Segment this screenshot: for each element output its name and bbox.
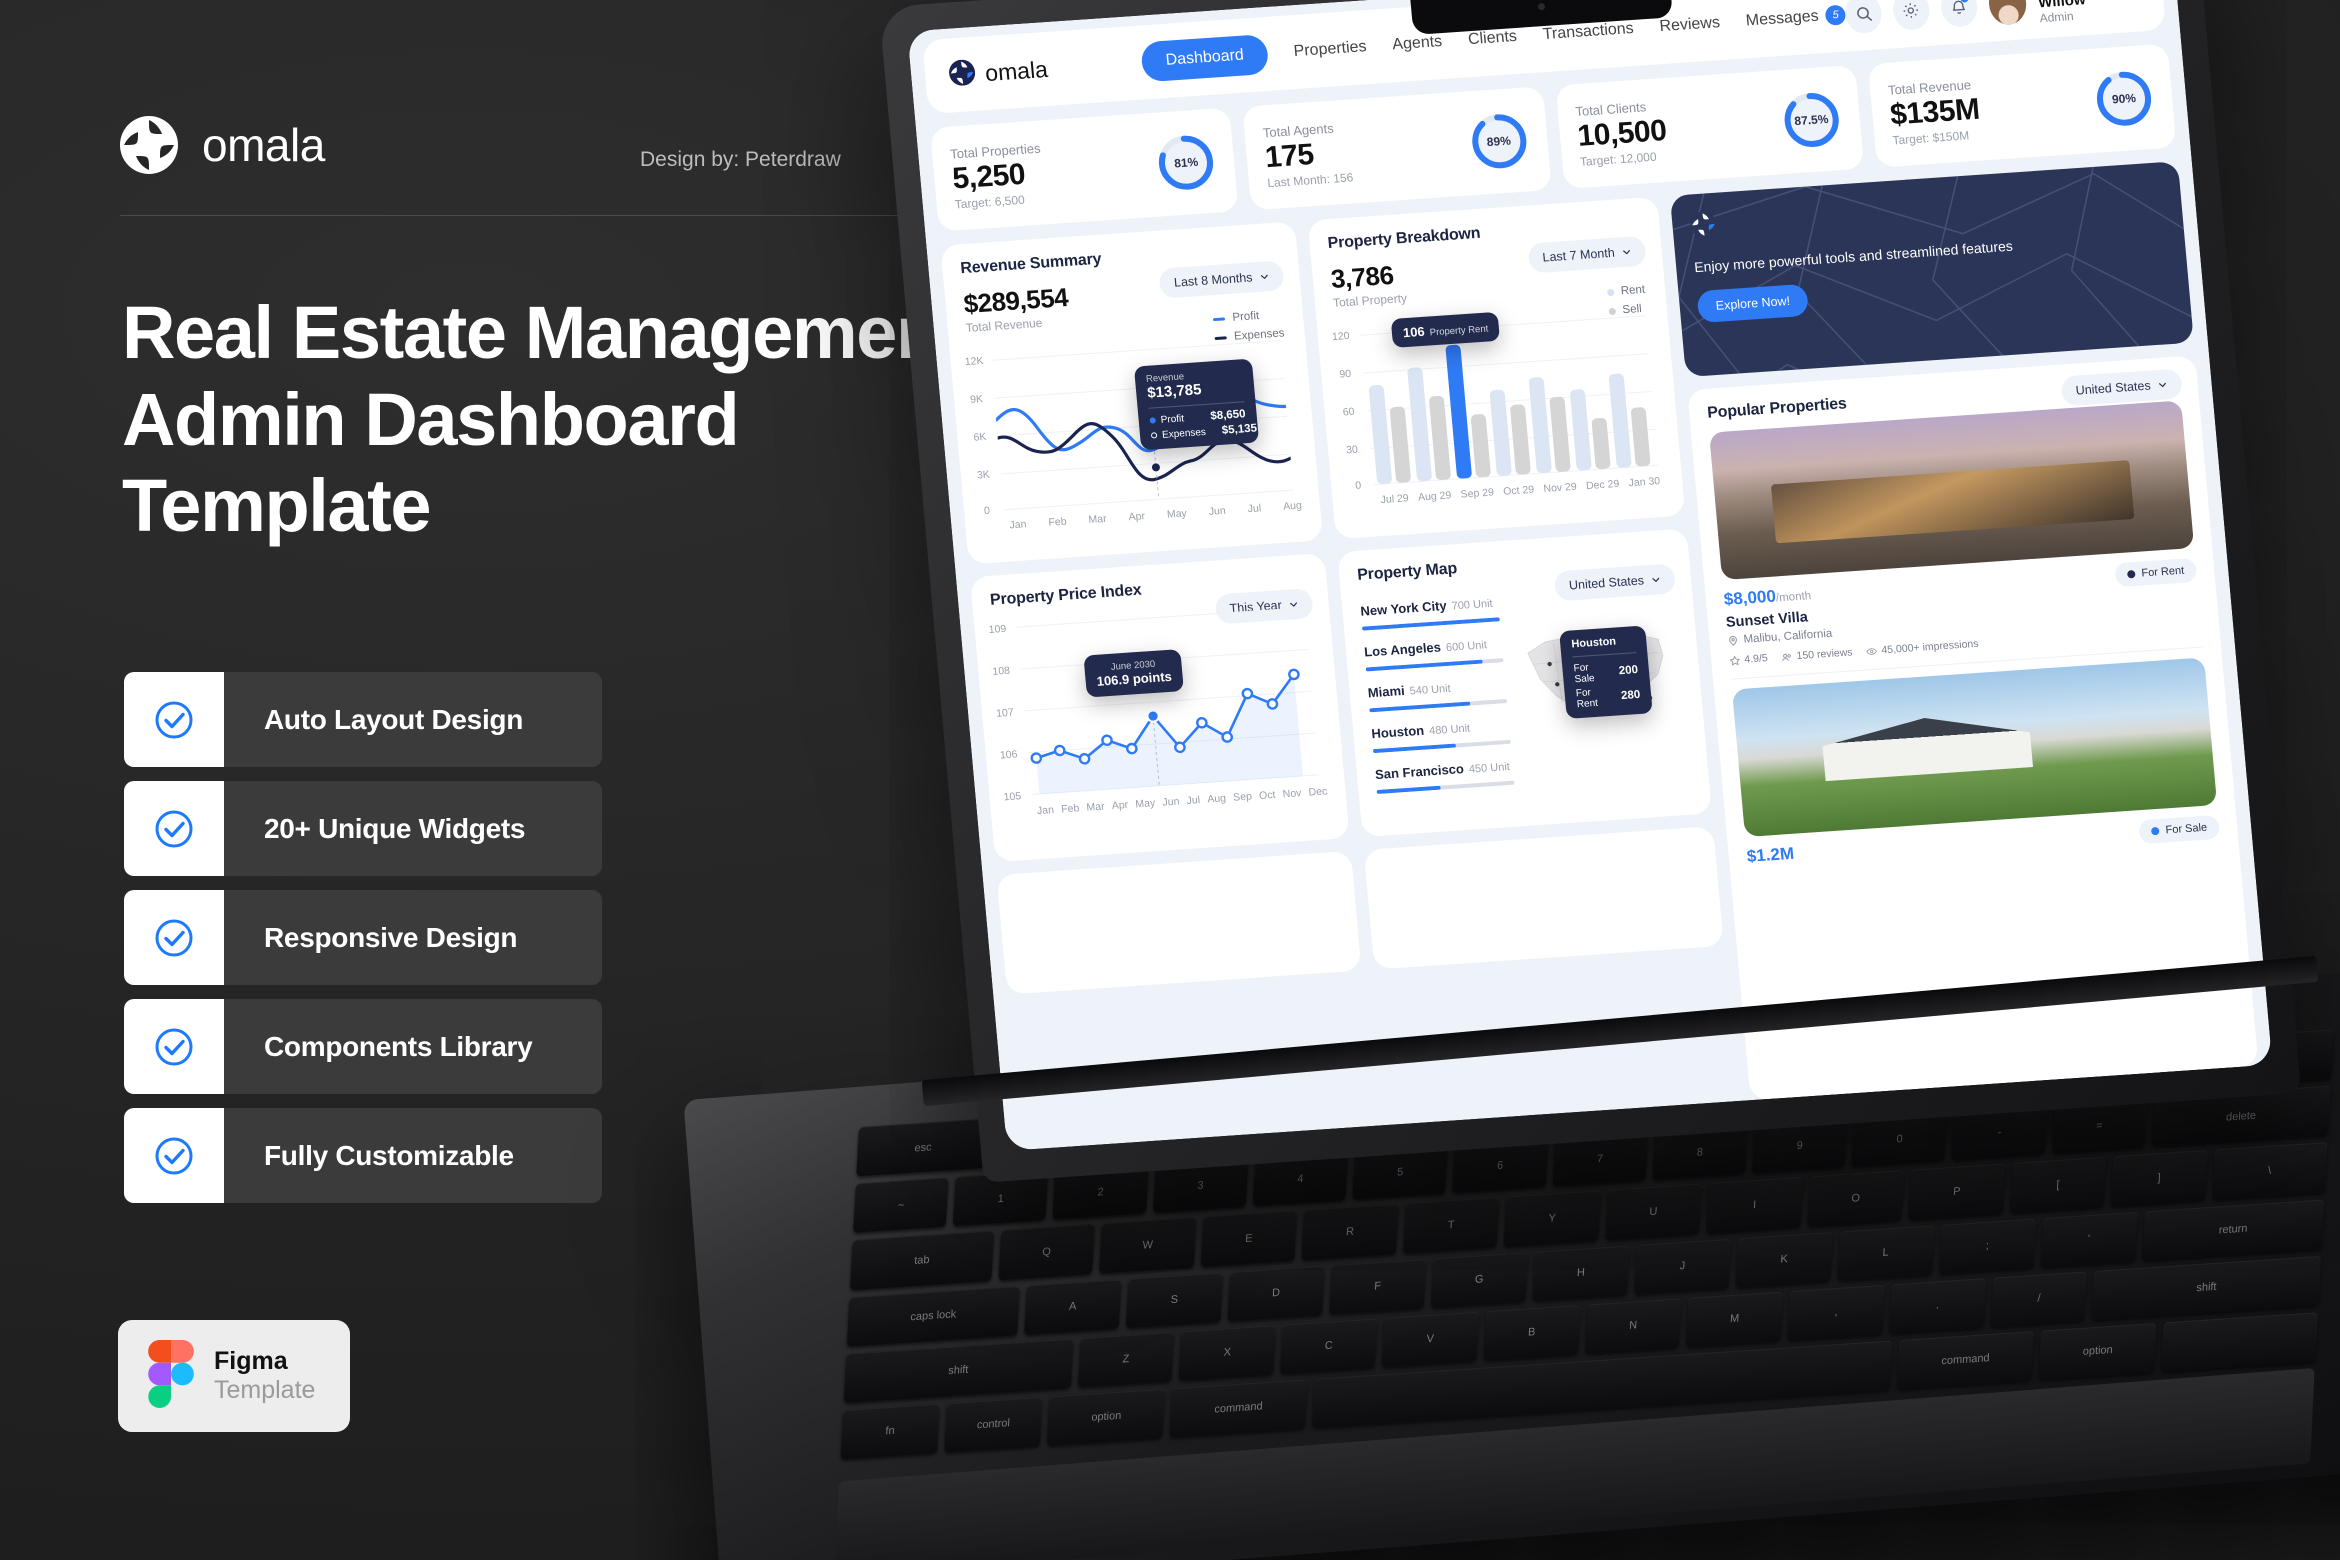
search-icon[interactable] [1844, 0, 1883, 34]
progress-ring: 87.5% [1779, 88, 1844, 152]
city-name: New York City [1360, 598, 1447, 619]
revenue-tooltip: Revenue $13,785 Profit$8,650 Expenses$5,… [1134, 359, 1259, 451]
brand-name: omala [202, 118, 325, 172]
stat-value: 5,250 [951, 155, 1044, 197]
city-progress-bar [1376, 781, 1514, 794]
stat-value: 175 [1263, 134, 1352, 176]
tab-dashboard[interactable]: Dashboard [1140, 34, 1270, 82]
tab-messages[interactable]: Messages5 [1745, 5, 1846, 32]
feature-label: Components Library [224, 999, 532, 1094]
city-units: 700 Unit [1451, 598, 1493, 613]
chevron-down-icon [1621, 247, 1632, 258]
divider [120, 215, 1000, 216]
progress-ring: 89% [1466, 109, 1531, 173]
us-map[interactable]: Houston For Sale200 For Rent280 [1508, 581, 1691, 784]
price-index-chart: 109 108 107 106 105 [988, 602, 1332, 823]
property-image [1732, 657, 2217, 837]
design-credit: Design by: Peterdraw [640, 148, 841, 172]
tooltip-label: Property Rent [1429, 323, 1488, 338]
check-circle-icon [124, 672, 224, 767]
city-progress-bar [1373, 740, 1511, 753]
feature-label: Responsive Design [224, 890, 517, 985]
list-item: New York City700 Unit [1360, 593, 1500, 630]
stat-card-total-clients: Total Clients 10,500 Target: 12,000 87.5… [1555, 65, 1864, 189]
bell-icon[interactable] [1939, 0, 1978, 28]
revenue-summary-card: Revenue Summary $289,554 Total Revenue L… [940, 221, 1323, 564]
property-item[interactable]: $1.2M For Sale [1732, 657, 2220, 866]
list-item: Responsive Design [124, 890, 602, 985]
tab-properties[interactable]: Properties [1293, 38, 1367, 61]
laptop-mockup: escF1F2F3F4F5F6F7F8F9F10F11F12 ~12345678… [930, 0, 2340, 1560]
list-item: Houston480 Unit [1371, 716, 1511, 753]
omala-logo-icon [1691, 224, 1718, 243]
feature-label: 20+ Unique Widgets [224, 781, 525, 876]
list-item: Components Library [124, 999, 602, 1094]
feature-list: Auto Layout Design 20+ Unique Widgets Re… [124, 672, 602, 1203]
property-image [1709, 400, 2194, 580]
feature-label: Auto Layout Design [224, 672, 523, 767]
eye-icon [1866, 645, 1878, 657]
city-list: New York City700 Unit Los Angeles600 Uni… [1360, 593, 1515, 794]
star-icon [1729, 655, 1741, 667]
extra-card-a [997, 851, 1362, 995]
property-rating: 4.9/5 [1729, 652, 1768, 667]
stat-value: 10,500 [1576, 113, 1668, 155]
figma-template-badge[interactable]: Figma Template [118, 1320, 350, 1432]
breakdown-chart: 120 90 60 30 0 [1332, 309, 1668, 490]
list-item: 20+ Unique Widgets [124, 781, 602, 876]
chevron-down-icon [1259, 271, 1270, 282]
tooltip-value: 106 [1402, 324, 1425, 340]
people-icon [1781, 651, 1793, 663]
list-item: Fully Customizable [124, 1108, 602, 1203]
figma-title: Figma [214, 1347, 315, 1376]
tooltip-city: Houston [1571, 634, 1636, 650]
city-name: Los Angeles [1364, 639, 1442, 659]
list-item: Los Angeles600 Unit [1363, 634, 1503, 671]
feature-label: Fully Customizable [224, 1108, 514, 1203]
check-circle-icon [124, 999, 224, 1094]
houston-tooltip: Houston For Sale200 For Rent280 [1559, 625, 1653, 719]
stat-percent: 87.5% [1779, 88, 1844, 152]
location-pin-icon [1727, 635, 1739, 647]
property-item[interactable]: $8,000/month Sunset Villa Malibu, Califo… [1709, 400, 2202, 666]
tab-clients[interactable]: Clients [1467, 28, 1517, 49]
avatar[interactable] [1987, 0, 2028, 26]
status-badge: For Sale [2139, 815, 2221, 844]
tab-agents[interactable]: Agents [1392, 33, 1443, 54]
chevron-down-icon[interactable] [2125, 0, 2140, 4]
check-circle-icon [124, 890, 224, 985]
gear-icon[interactable] [1892, 0, 1931, 31]
progress-ring: 81% [1154, 131, 1219, 195]
progress-ring: 90% [2091, 67, 2156, 131]
header-actions: Milla Willow Admin [1843, 0, 2140, 39]
promo-card: Enjoy more powerful tools and streamline… [1670, 161, 2194, 377]
extra-card-b [1364, 826, 1724, 969]
figma-icon [148, 1340, 194, 1413]
stat-percent: 81% [1154, 131, 1219, 195]
city-name: Houston [1371, 723, 1425, 742]
stat-percent: 89% [1466, 109, 1531, 173]
city-progress-bar [1366, 658, 1504, 671]
stat-card-total-properties: Total Properties 5,250 Target: 6,500 81% [930, 108, 1239, 232]
city-units: 480 Unit [1429, 723, 1471, 738]
check-circle-icon [124, 781, 224, 876]
price-index-card: Property Price Index This Year 109 108 1… [970, 553, 1350, 862]
omala-logo-icon [948, 58, 977, 91]
legend-rent: Rent [1606, 284, 1645, 299]
messages-badge: 5 [1825, 5, 1847, 26]
legend-profit: Profit [1213, 310, 1260, 325]
property-map-card: Property Map United States New York City… [1337, 528, 1712, 837]
app-logo-name: omala [984, 55, 1049, 86]
city-progress-bar [1369, 699, 1507, 712]
check-circle-icon [124, 1108, 224, 1203]
chevron-down-icon [2157, 379, 2168, 390]
omala-logo-icon [120, 116, 178, 174]
price-index-tooltip: June 2030 106.9 points [1083, 649, 1184, 697]
laptop-lid: omala Dashboard Properties Agents Client… [879, 0, 2301, 1183]
city-name: Miami [1367, 683, 1405, 700]
city-name: San Francisco [1374, 761, 1464, 782]
stat-value: $135M [1889, 91, 1981, 133]
list-item: Miami540 Unit [1367, 675, 1507, 712]
app-logo[interactable]: omala [948, 47, 1143, 91]
city-units: 600 Unit [1445, 639, 1487, 654]
stat-card-total-revenue: Total Revenue $135M Target: $150M 90% [1868, 44, 2177, 168]
stat-percent: 90% [2091, 67, 2156, 131]
figma-subtitle: Template [214, 1376, 315, 1405]
property-impressions: 45,000+ impressions [1866, 638, 1979, 658]
tab-reviews[interactable]: Reviews [1659, 14, 1721, 36]
property-breakdown-card: Property Breakdown 3,786 Total Property … [1308, 197, 1686, 540]
property-reviews: 150 reviews [1781, 646, 1853, 663]
list-item: Auto Layout Design [124, 672, 602, 767]
stat-card-total-agents: Total Agents 175 Last Month: 156 89% [1242, 86, 1551, 210]
city-units: 450 Unit [1468, 761, 1510, 776]
list-item: San Francisco450 Unit [1374, 757, 1514, 794]
city-progress-bar [1362, 617, 1500, 630]
page-title: Real Estate Management Admin Dashboard T… [122, 290, 1022, 550]
city-units: 540 Unit [1409, 683, 1451, 698]
revenue-chart: 12K 9K 6K 3K 0 [964, 334, 1305, 516]
